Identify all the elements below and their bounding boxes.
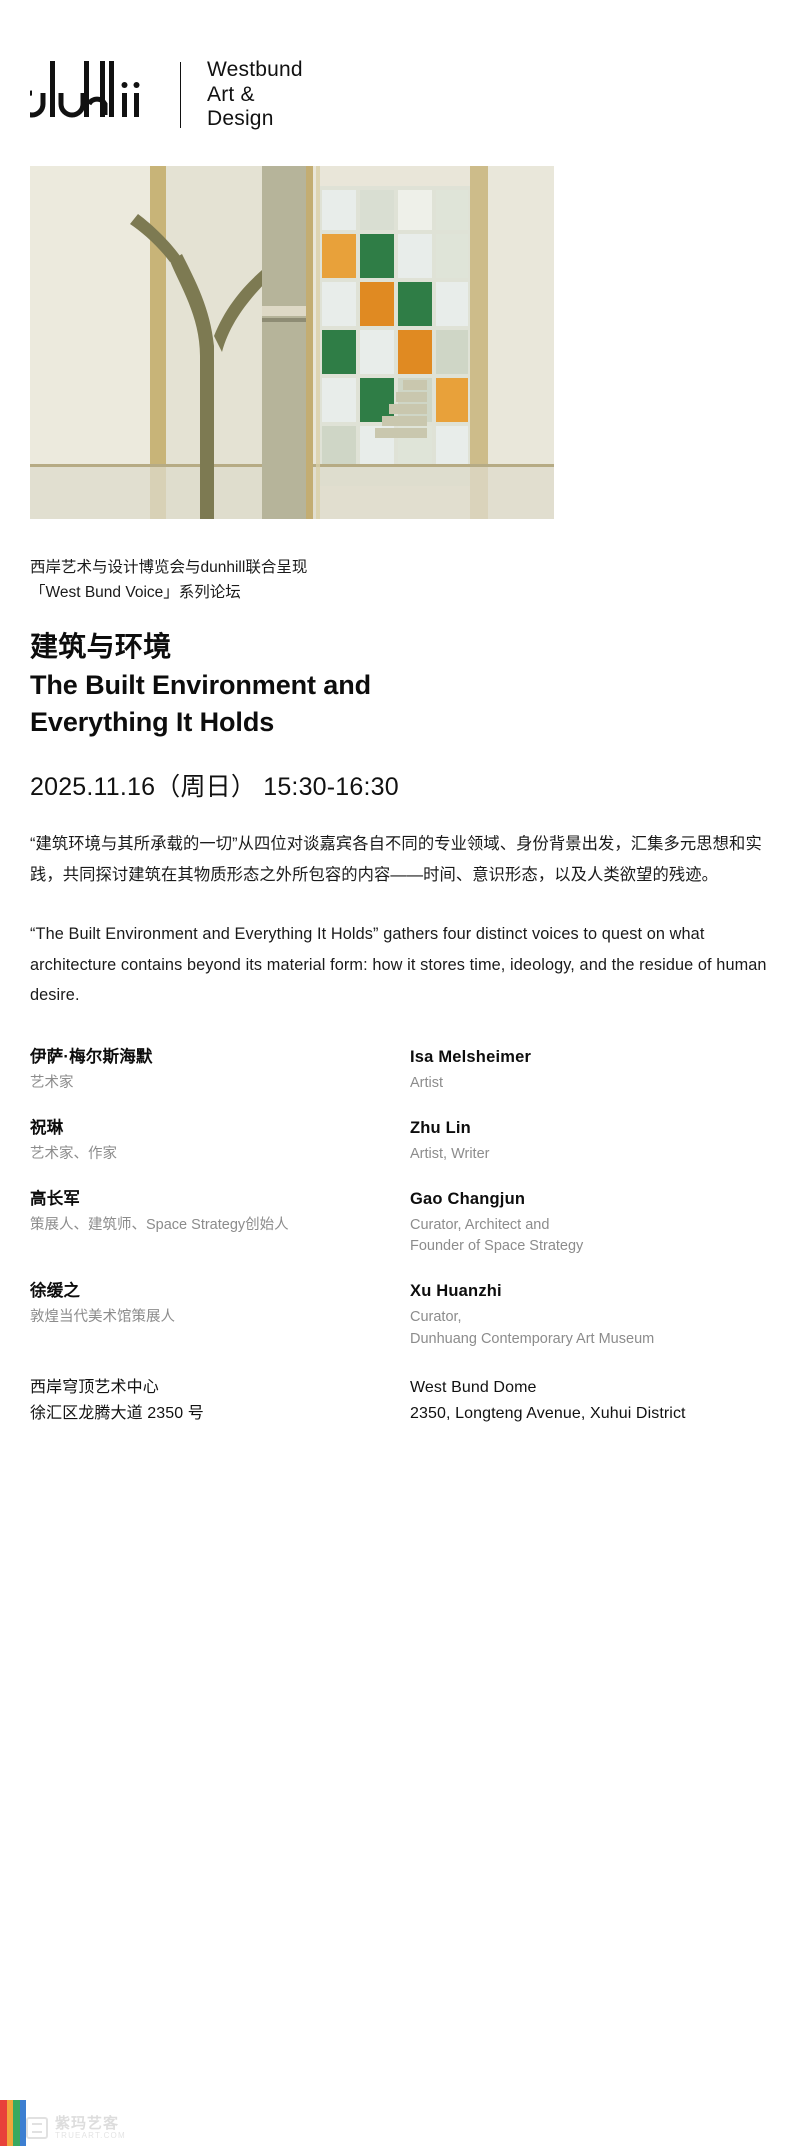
speaker-name-en: Zhu Lin [410, 1117, 770, 1141]
speaker-name-en: Isa Melsheimer [410, 1046, 770, 1070]
speaker-role-cn: 策展人、建筑师、Space Strategy创始人 [30, 1215, 400, 1237]
description-en: “The Built Environment and Everything It… [30, 919, 770, 1010]
venue-name-en: West Bund Dome [410, 1375, 770, 1402]
dunhill-wordmark-icon [30, 59, 158, 131]
speaker-en-column: Zhu Lin Artist, Writer [400, 1117, 770, 1166]
speaker-en-column: Gao Changjun Curator, Architect and Foun… [400, 1188, 770, 1258]
description-cn: “建筑环境与其所承载的一切”从四位对谈嘉宾各自不同的专业领域、身份背景出发，汇集… [30, 829, 770, 892]
speaker-name-cn: 伊萨·梅尔斯海默 [30, 1046, 400, 1070]
speaker-row: 祝琳 艺术家、作家 Zhu Lin Artist, Writer [30, 1117, 770, 1166]
venue-address-cn: 徐汇区龙腾大道 2350 号 [30, 1401, 400, 1428]
speaker-role-en: Artist [410, 1073, 770, 1095]
speaker-name-cn: 高长军 [30, 1188, 400, 1212]
speaker-cn-column: 徐缓之 敦煌当代美术馆策展人 [30, 1280, 400, 1350]
speaker-role-en: Artist, Writer [410, 1144, 770, 1166]
speaker-en-column: Isa Melsheimer Artist [400, 1046, 770, 1095]
speaker-cn-column: 高长军 策展人、建筑师、Space Strategy创始人 [30, 1188, 400, 1258]
event-datetime: 2025.11.16（周日） 15:30-16:30 [30, 767, 770, 803]
footer: 紫玛艺客 TRUEART.COM [0, 2100, 800, 2146]
watermark-label-cn: 紫玛艺客 [55, 2116, 126, 2132]
logo-divider [180, 62, 181, 128]
page-title-en-line1: The Built Environment and [30, 668, 770, 704]
kicker: 西岸艺术与设计博览会与dunhill联合呈现 「West Bund Voice」… [30, 555, 770, 605]
venue-block: 西岸穹顶艺术中心 徐汇区龙腾大道 2350 号 West Bund Dome 2… [30, 1375, 770, 1429]
watermark-label-en: TRUEART.COM [55, 2132, 126, 2140]
kicker-line-2: 「West Bund Voice」系列论坛 [30, 580, 770, 605]
hero-artwork-illustration [30, 166, 554, 519]
speaker-role-cn: 艺术家、作家 [30, 1144, 400, 1166]
dunhill-logo [30, 59, 158, 131]
speaker-role-cn: 敦煌当代美术馆策展人 [30, 1307, 400, 1329]
title-block: 建筑与环境 The Built Environment and Everythi… [30, 629, 770, 741]
venue-name-cn: 西岸穹顶艺术中心 [30, 1375, 400, 1402]
speaker-name-cn: 祝琳 [30, 1117, 400, 1141]
venue-address-en: 2350, Longteng Avenue, Xuhui District [410, 1401, 770, 1428]
speaker-role-cn: 艺术家 [30, 1073, 400, 1095]
speaker-name-en: Xu Huanzhi [410, 1280, 770, 1304]
page-title-en-line2: Everything It Holds [30, 705, 770, 741]
page-title-cn: 建筑与环境 [30, 629, 770, 665]
kicker-line-1: 西岸艺术与设计博览会与dunhill联合呈现 [30, 555, 770, 580]
content: 西岸艺术与设计博览会与dunhill联合呈现 「West Bund Voice」… [0, 519, 800, 1428]
hero-image [30, 166, 554, 519]
venue-en-column: West Bund Dome 2350, Longteng Avenue, Xu… [400, 1375, 770, 1429]
speaker-cn-column: 祝琳 艺术家、作家 [30, 1117, 400, 1166]
westbund-art-design-logo: Westbund Art & Design [207, 58, 303, 132]
color-stripes-icon [0, 2100, 26, 2146]
speaker-en-column: Xu Huanzhi Curator, Dunhuang Contemporar… [400, 1280, 770, 1350]
watermark: 紫玛艺客 TRUEART.COM [26, 2116, 126, 2140]
speaker-name-en: Gao Changjun [410, 1188, 770, 1212]
speaker-row: 高长军 策展人、建筑师、Space Strategy创始人 Gao Changj… [30, 1188, 770, 1258]
speaker-name-cn: 徐缓之 [30, 1280, 400, 1304]
speaker-row: 伊萨·梅尔斯海默 艺术家 Isa Melsheimer Artist [30, 1046, 770, 1095]
speaker-row: 徐缓之 敦煌当代美术馆策展人 Xu Huanzhi Curator, Dunhu… [30, 1280, 770, 1350]
poster-page: Westbund Art & Design [0, 0, 800, 2146]
watermark-logo-icon [26, 2117, 48, 2139]
header: Westbund Art & Design [0, 0, 800, 120]
watermark-text: 紫玛艺客 TRUEART.COM [55, 2116, 126, 2140]
speaker-cn-column: 伊萨·梅尔斯海默 艺术家 [30, 1046, 400, 1095]
speakers-list: 伊萨·梅尔斯海默 艺术家 Isa Melsheimer Artist 祝琳 艺术… [30, 1046, 770, 1350]
venue-cn-column: 西岸穹顶艺术中心 徐汇区龙腾大道 2350 号 [30, 1375, 400, 1429]
speaker-role-en: Curator, Architect and Founder of Space … [410, 1215, 770, 1259]
speaker-role-en: Curator, Dunhuang Contemporary Art Museu… [410, 1307, 770, 1351]
